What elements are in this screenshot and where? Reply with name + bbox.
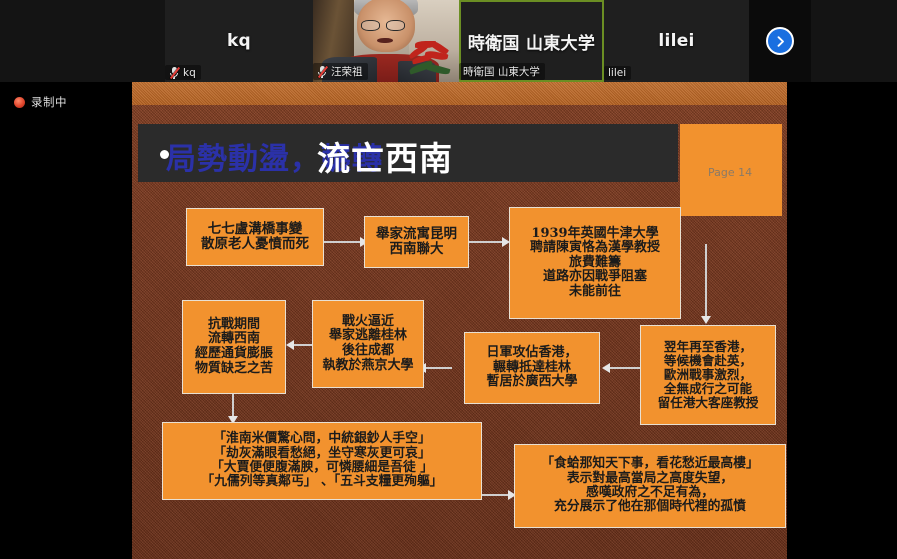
arrowhead-b6-b7	[286, 340, 294, 350]
zoom-meeting-screen: kq kq	[0, 0, 897, 559]
slide-title-white: 流亡西南	[317, 132, 453, 180]
video-tile-kq[interactable]: kq kq	[165, 0, 313, 82]
recording-indicator[interactable]: 录制中	[8, 92, 73, 112]
tile-footer: 時衛国 山東大学	[459, 63, 545, 80]
title-bullet-icon	[160, 150, 169, 159]
connector-b2-b3	[466, 241, 504, 243]
flow-box-guilin[interactable]: 日軍攻佔香港， 輾轉抵達桂林 暫居於廣西大學	[464, 332, 600, 404]
connector-b1-b2	[324, 241, 362, 243]
flow-box-chengdu-yanjing[interactable]: 戰火逼近 舉家逃離桂林 後往成都 執教於燕京大學	[312, 300, 424, 388]
chevron-right-icon	[774, 35, 787, 48]
flow-box-lugouqiao[interactable]: 七七盧溝橋事變 散原老人憂憤而死	[186, 208, 324, 266]
tile-footer: lilei	[604, 66, 631, 80]
page-number-box: Page 14	[680, 124, 782, 216]
flow-box-wartime-inflation[interactable]: 抗戰期間 流轉西南 經歷通貨膨脹 物質缺乏之苦	[182, 300, 286, 394]
connector-b3-b4-vert	[705, 244, 707, 320]
tile-footer: 汪荣祖	[313, 63, 368, 80]
page-number-label: Page 14	[708, 166, 752, 179]
connector-b5-b6	[424, 367, 452, 369]
flow-box-oxford-1939[interactable]: 1939年英國牛津大學 聘請陳寅恪為漢學教授 旅費難籌 道路亦因戰爭阻塞 未能前…	[509, 207, 681, 319]
video-tile-wangrongzu[interactable]: 汪荣祖	[313, 0, 459, 82]
tile-footer-name: kq	[183, 67, 196, 79]
flow-box-hongkong-again[interactable]: 翌年再至香港， 等候機會赴英， 歐洲戰事激烈， 全無成行之可能 留任港大客座教授	[640, 325, 776, 425]
tile-display-name: 時衛国 山東大学	[468, 29, 595, 54]
filmstrip-next-region	[749, 0, 811, 82]
mic-muted-icon	[169, 66, 179, 79]
arrowhead-b4-b5	[602, 363, 610, 373]
arrowhead-b3-b4	[701, 316, 711, 324]
poinsettia-plant	[404, 36, 457, 80]
shared-slide: 局勢動盪，輾轉 流亡西南 Page 14 七七盧溝橋事變	[132, 82, 787, 559]
flow-box-poem-quotes[interactable]: 「淮南米價驚心問，中統銀鈔人手空」 「劫灰滿眼看愁絕，坐守寒灰更可哀」 「大賈便…	[162, 422, 482, 500]
flow-box-kunming[interactable]: 舉家流寓昆明 西南聯大	[364, 216, 469, 268]
connector-b4-b5	[609, 367, 641, 369]
flow-box-commentary[interactable]: 「食蛤那知天下事，看花愁近最高樓」 表示對最高當局之高度失望， 感嘆政府之不足有…	[514, 444, 786, 528]
filmstrip-right-padding	[811, 0, 897, 82]
tile-footer-name: lilei	[608, 67, 626, 79]
video-tile-shiweiguo[interactable]: 時衛国 山東大学 時衛国 山東大学	[459, 0, 604, 82]
mic-muted-icon	[317, 65, 327, 78]
tile-display-name: kq	[227, 31, 251, 51]
video-tile-lilei[interactable]: lilei lilei	[604, 0, 749, 82]
filmstrip-left-padding	[0, 0, 165, 82]
tile-footer-name: 汪荣祖	[331, 64, 363, 79]
participant-filmstrip: kq kq	[0, 0, 897, 82]
recording-label: 录制中	[31, 94, 67, 110]
slide-top-band	[132, 82, 787, 105]
tile-footer-name: 時衛国 山東大学	[463, 64, 540, 79]
next-page-button[interactable]	[766, 27, 794, 55]
record-dot-icon	[14, 97, 25, 108]
tile-display-name: lilei	[658, 31, 694, 51]
tile-footer: kq	[165, 65, 201, 80]
